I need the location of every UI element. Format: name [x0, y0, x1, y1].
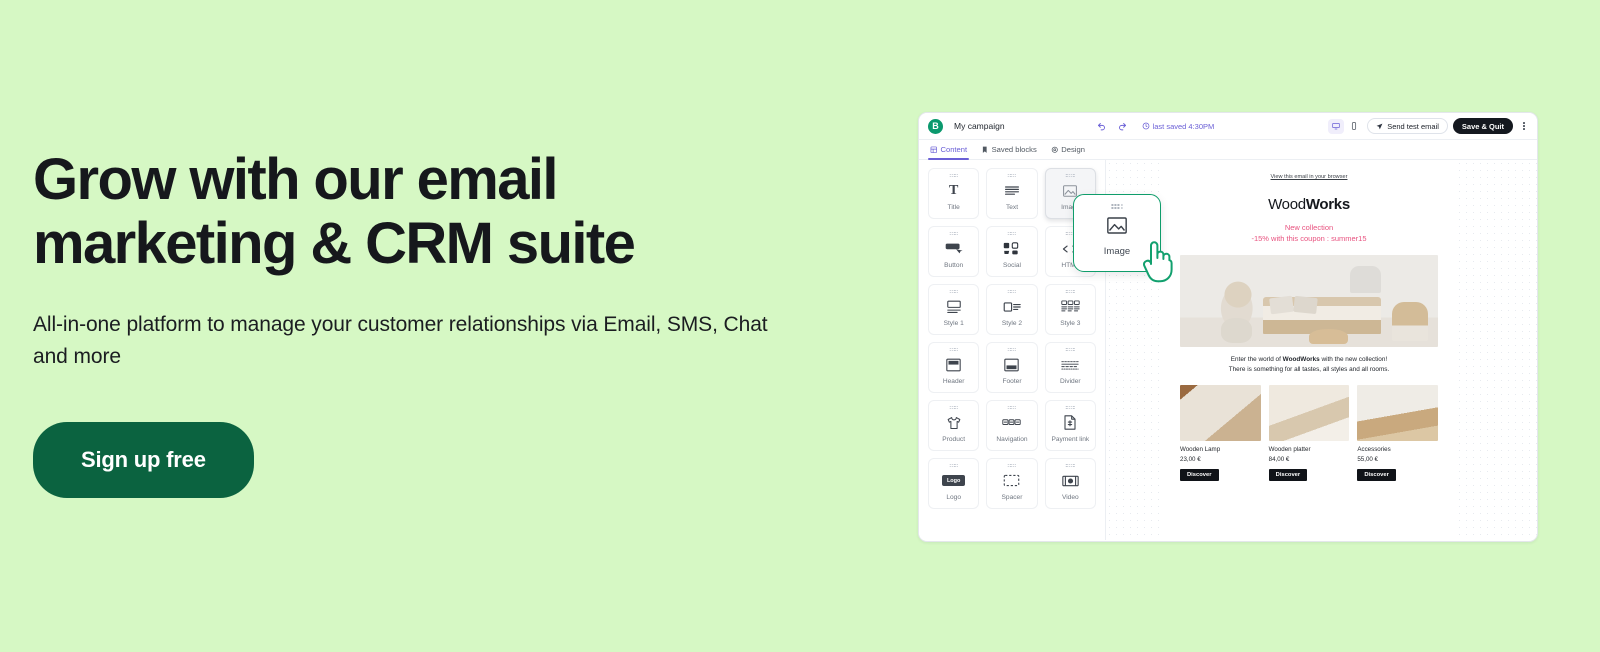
- drag-handle-icon[interactable]: [1008, 232, 1016, 236]
- social-networks-icon: [1003, 238, 1020, 260]
- brand-light-part: Wood: [1268, 196, 1306, 213]
- discover-button[interactable]: Discover: [1357, 469, 1396, 481]
- image-icon: [1107, 217, 1127, 239]
- accessories-photo: [1357, 385, 1438, 441]
- cushion-left: [1269, 295, 1294, 313]
- product-name: Wooden platter: [1269, 446, 1350, 453]
- drag-handle-icon[interactable]: [949, 464, 957, 468]
- body-line-1-bold: WoodWorks: [1283, 356, 1320, 363]
- product-card[interactable]: Wooden Lamp 23,00 € Discover: [1180, 385, 1261, 481]
- tab-saved-blocks-label: Saved blocks: [992, 145, 1037, 154]
- mobile-icon[interactable]: [1346, 119, 1362, 134]
- gear-icon: [1051, 146, 1059, 154]
- drag-handle-icon[interactable]: [1066, 174, 1074, 178]
- campaign-name[interactable]: My campaign: [954, 121, 1005, 131]
- block-button[interactable]: Button: [928, 226, 979, 277]
- product-grid: Wooden Lamp 23,00 € Discover Wooden plat…: [1180, 385, 1438, 481]
- drag-handle-icon[interactable]: [1066, 290, 1074, 294]
- editor-toolbar: B My campaign last saved 4:30PM: [919, 113, 1537, 140]
- block-product[interactable]: Product: [928, 400, 979, 451]
- wooden-platter-photo: [1269, 385, 1350, 441]
- drag-handle-icon[interactable]: [949, 174, 957, 178]
- block-text[interactable]: Text: [986, 168, 1037, 219]
- block-title-label: Title: [948, 205, 960, 212]
- tab-saved-blocks[interactable]: Saved blocks: [981, 140, 1037, 160]
- navigation-icon: [1002, 412, 1021, 434]
- tab-content[interactable]: Content: [930, 140, 967, 160]
- side-chair: [1392, 302, 1428, 341]
- drag-handle-icon[interactable]: [1066, 464, 1074, 468]
- block-spacer[interactable]: Spacer: [986, 458, 1037, 509]
- style-one-icon: [946, 296, 962, 318]
- clock-icon: [1142, 122, 1150, 130]
- brevo-logo-icon: B: [928, 119, 943, 134]
- save-and-quit-button[interactable]: Save & Quit: [1453, 118, 1513, 134]
- drag-handle-icon[interactable]: [1008, 348, 1016, 352]
- last-saved-text: last saved 4:30PM: [1153, 122, 1215, 131]
- block-product-label: Product: [942, 437, 965, 444]
- editor-tabs: Content Saved blocks Design: [919, 140, 1537, 160]
- discover-button[interactable]: Discover: [1269, 469, 1308, 481]
- hero-subtitle: All-in-one platform to manage your custo…: [33, 309, 803, 374]
- editor-body: T Title Text Image: [919, 160, 1537, 540]
- block-style-1-label: Style 1: [944, 321, 964, 328]
- block-style-1[interactable]: Style 1: [928, 284, 979, 335]
- drag-handle-icon[interactable]: [1111, 204, 1122, 209]
- block-footer-label: Footer: [1002, 379, 1021, 386]
- last-saved-indicator: last saved 4:30PM: [1142, 122, 1215, 131]
- block-button-label: Button: [944, 263, 963, 270]
- wooden-lamp-photo: [1180, 385, 1261, 441]
- block-video[interactable]: Video: [1045, 458, 1096, 509]
- desktop-icon[interactable]: [1328, 119, 1344, 134]
- spacer-icon: [1003, 470, 1020, 492]
- page-title: Grow with our email marketing & CRM suit…: [33, 148, 673, 276]
- send-test-email-button[interactable]: Send test email: [1367, 118, 1448, 134]
- send-test-email-label: Send test email: [1387, 122, 1439, 131]
- block-style-3-label: Style 3: [1060, 321, 1080, 328]
- block-text-label: Text: [1006, 205, 1018, 212]
- brand-bold-part: Works: [1306, 196, 1350, 213]
- title-T-icon: T: [949, 180, 958, 202]
- kebab-menu-icon[interactable]: [1518, 118, 1530, 134]
- paper-plane-icon: [1376, 123, 1383, 130]
- email-promo: New collection -15% with this coupon : s…: [1180, 222, 1438, 245]
- footer-icon: [1004, 354, 1019, 376]
- block-header[interactable]: Header: [928, 342, 979, 393]
- product-price: 84,00 €: [1269, 456, 1350, 463]
- product-name: Accessories: [1357, 446, 1438, 453]
- email-editor-mockup: B My campaign last saved 4:30PM: [918, 112, 1538, 542]
- drag-handle-icon[interactable]: [1066, 406, 1074, 410]
- layout-icon: [930, 146, 938, 154]
- block-social[interactable]: Social: [986, 226, 1037, 277]
- undo-icon[interactable]: [1095, 120, 1108, 133]
- drag-handle-icon[interactable]: [1008, 174, 1016, 178]
- header-icon: [946, 354, 961, 376]
- block-video-label: Video: [1062, 495, 1079, 502]
- promo-line-1: New collection: [1180, 222, 1438, 233]
- toolbar-right-group: Send test email Save & Quit: [1328, 118, 1530, 134]
- drag-handle-icon[interactable]: [1008, 290, 1016, 294]
- floor-vase: [1221, 318, 1252, 343]
- block-social-label: Social: [1003, 263, 1021, 270]
- coffee-table: [1309, 329, 1348, 344]
- divider-icon: [1061, 354, 1079, 376]
- video-icon: [1062, 470, 1079, 492]
- view-mode-toggle: [1328, 119, 1362, 134]
- email-preview: View this email in your browser WoodWork…: [1164, 160, 1454, 540]
- block-logo-label: Logo: [946, 495, 961, 502]
- button-icon: [945, 238, 963, 260]
- sign-up-free-button[interactable]: Sign up free: [33, 422, 254, 498]
- redo-icon[interactable]: [1116, 120, 1129, 133]
- view-in-browser-link[interactable]: View this email in your browser: [1180, 174, 1438, 180]
- drag-handle-icon[interactable]: [949, 232, 957, 236]
- drag-handle-icon[interactable]: [1066, 348, 1074, 352]
- logo-icon: Logo: [942, 470, 965, 492]
- block-header-label: Header: [943, 379, 965, 386]
- product-price: 23,00 €: [1180, 456, 1261, 463]
- drag-handle-icon[interactable]: [949, 290, 957, 294]
- hero-section: Grow with our email marketing & CRM suit…: [33, 148, 863, 498]
- cta-wrapper: Sign up free: [33, 422, 863, 498]
- email-hero-image[interactable]: [1180, 255, 1438, 347]
- drag-handle-icon[interactable]: [949, 348, 957, 352]
- cushion-right: [1293, 296, 1318, 314]
- block-navigation[interactable]: Navigation: [986, 400, 1037, 451]
- block-spacer-label: Spacer: [1002, 495, 1023, 502]
- tab-design[interactable]: Design: [1051, 140, 1085, 160]
- block-divider-label: Divider: [1060, 379, 1081, 386]
- wall-niche: [1350, 266, 1381, 294]
- block-payment-link-label: Payment link: [1051, 437, 1089, 444]
- drag-handle-icon[interactable]: [1008, 464, 1016, 468]
- pampas-grass: [1216, 277, 1260, 321]
- pointing-hand-cursor: [1139, 238, 1173, 289]
- tab-design-label: Design: [1061, 145, 1085, 154]
- product-price: 55,00 €: [1357, 456, 1438, 463]
- body-line-1: Enter the world of WoodWorks with the ne…: [1180, 355, 1438, 365]
- block-style-2-label: Style 2: [1002, 321, 1022, 328]
- bookmark-icon: [981, 146, 989, 154]
- discover-button[interactable]: Discover: [1180, 469, 1219, 481]
- email-body-text: Enter the world of WoodWorks with the ne…: [1180, 355, 1438, 376]
- block-style-3[interactable]: Style 3: [1045, 284, 1096, 335]
- block-navigation-label: Navigation: [996, 437, 1027, 444]
- style-three-icon: [1061, 296, 1080, 318]
- body-line-1-pre: Enter the world of: [1231, 356, 1283, 363]
- product-name: Wooden Lamp: [1180, 446, 1261, 453]
- drag-ghost-label: Image: [1104, 246, 1130, 257]
- style-two-icon: [1003, 296, 1021, 318]
- email-brand-title: WoodWorks: [1180, 196, 1438, 213]
- body-line-1-post: with the new collection!: [1320, 356, 1388, 363]
- drag-handle-icon[interactable]: [1008, 406, 1016, 410]
- drag-handle-icon[interactable]: [949, 406, 957, 410]
- product-card[interactable]: Accessories 55,00 € Discover: [1357, 385, 1438, 481]
- tshirt-icon: [946, 412, 962, 434]
- tab-content-label: Content: [941, 145, 968, 154]
- payment-link-icon: [1063, 412, 1077, 434]
- text-lines-icon: [1004, 180, 1020, 202]
- promo-line-2: -15% with this coupon : summer15: [1180, 233, 1438, 244]
- block-style-2[interactable]: Style 2: [986, 284, 1037, 335]
- block-payment-link[interactable]: Payment link: [1045, 400, 1096, 451]
- block-logo[interactable]: Logo Logo: [928, 458, 979, 509]
- block-divider[interactable]: Divider: [1045, 342, 1096, 393]
- block-title[interactable]: T Title: [928, 168, 979, 219]
- body-line-2: There is something for all tastes, all s…: [1180, 365, 1438, 375]
- email-canvas[interactable]: View this email in your browser WoodWork…: [1106, 160, 1537, 540]
- block-footer[interactable]: Footer: [986, 342, 1037, 393]
- product-card[interactable]: Wooden platter 84,00 € Discover: [1269, 385, 1350, 481]
